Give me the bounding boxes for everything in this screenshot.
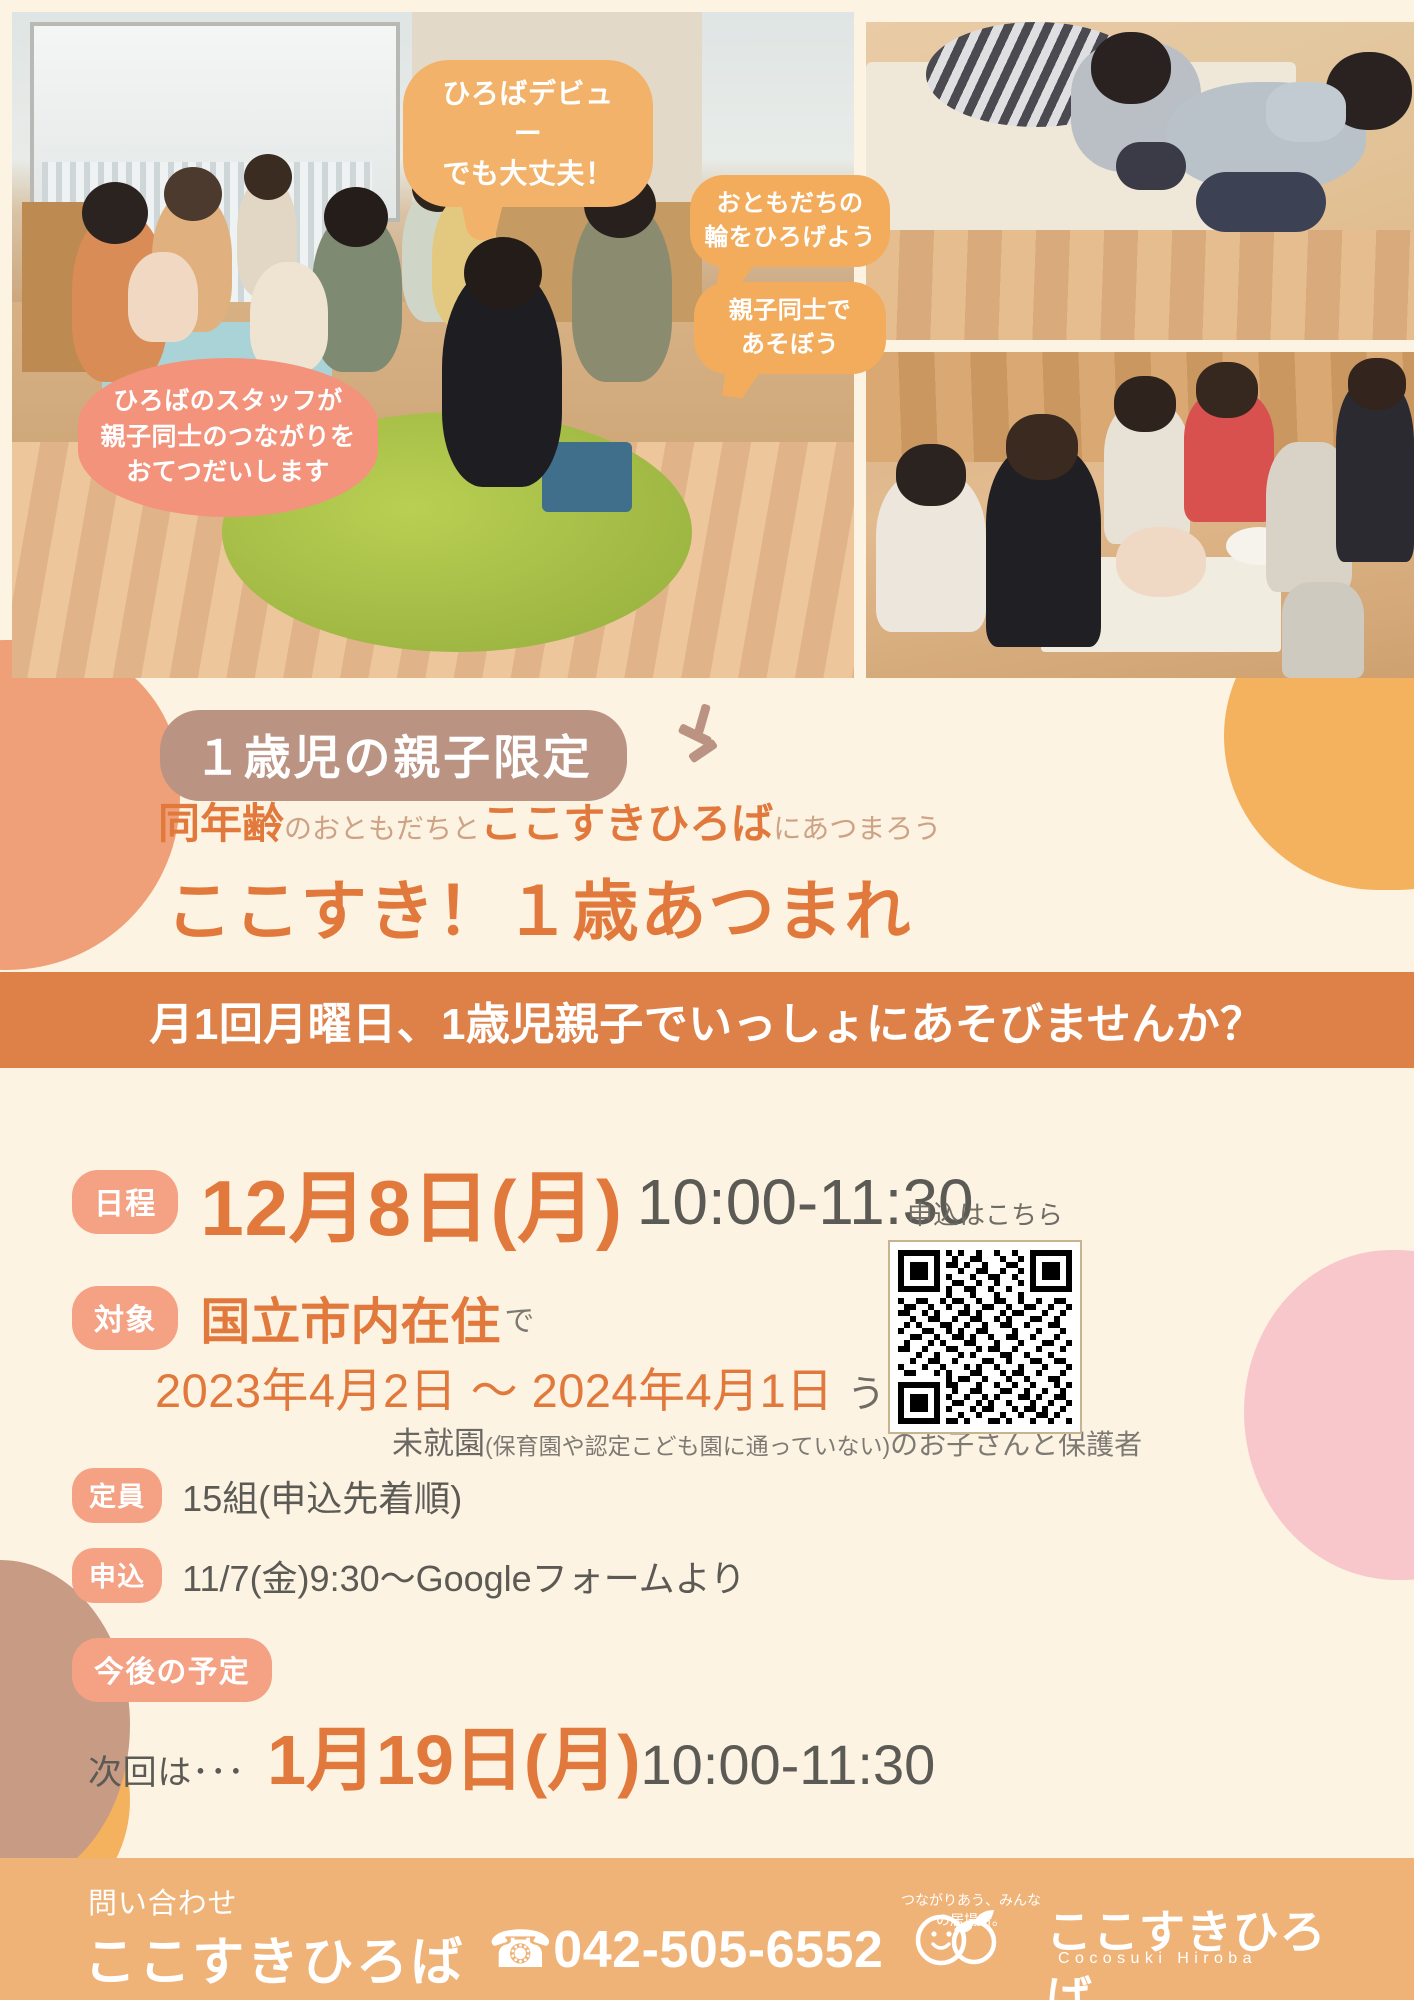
logo-brand-text: ここすきひろば [1046,1896,1336,2000]
detail-row-target: 対象 国立市内在住 で [72,1282,534,1354]
footer-org-name: ここすきひろば [84,1920,465,1995]
footer-logo: つながりあう、みんなの居場所。 ここすきひろば Cocosuki Hiroba [886,1884,1336,1980]
bubble-staff-support: ひろばのスタッフが 親子同士のつながりを おてつだいします [78,358,378,517]
logo-arc-text: つながりあう、みんなの居場所。 [896,1890,1046,1930]
target-note-paren: (保育園や認定こども園に通っていない) [485,1433,890,1459]
future-date: 1月19日(月) [267,1704,640,1805]
event-banner: 月1回月曜日、1歳児親子でいっしょにあそびませんか？ [0,972,1414,1068]
footer: 問い合わせ ここすきひろば ☎042-505-6552 つながりあう、みんなの居… [0,1858,1414,2000]
future-prefix: 次回は･･･ [88,1745,245,1794]
bubble-hiroba-debut-line2: でも大丈夫！ [429,154,627,194]
bubble-play-together: 親子同士で あそぼう [694,282,886,374]
future-label-pill: 今後の予定 [72,1638,272,1702]
title-subline-part2: のおともだちと [284,813,480,844]
bubble-play-together-line2: あそぼう [708,328,872,362]
photo-group-activity [866,352,1414,678]
title-subline-part4: にあつまろう [773,813,941,844]
detail-row-date: 日程 12月8日(月) 10:00-11:30 [72,1146,974,1258]
bubble-friend-circle-line2: 輪をひろげよう [704,221,876,255]
title-section: １歳児の親子限定 同年齢のおともだちとここすきひろばにあつまろう ここすき！１歳… [0,690,1414,972]
bubble-hiroba-debut: ひろばデビュー でも大丈夫！ [403,60,653,207]
bubble-staff-support-line2: 親子同士のつながりを [96,420,360,456]
detail-row-future: 今後の予定 [72,1638,272,1702]
bubble-friend-circle-line1: おともだちの [704,187,876,221]
target-main-value: 国立市内在住 [200,1282,500,1354]
bubble-staff-support-line3: おてつだいします [96,455,360,491]
footer-inquiry-label: 問い合わせ [88,1880,237,1922]
detail-row-apply: 申込 11/7(金)9:30～Googleフォームより [72,1548,746,1603]
telephone-icon: ☎ [488,1921,553,1979]
photo-collage: ひろばデビュー でも大丈夫！ ひろばのスタッフが 親子同士のつながりを おてつだ… [0,0,1414,690]
bubble-friend-circle: おともだちの 輪をひろげよう [690,175,890,267]
page-title: ここすき！１歳あつまれ [166,858,912,954]
target-birthdate-range-value: 2023年4月2日 ～ 2024年4月1日 [155,1364,834,1417]
qr-code-image [898,1250,1072,1424]
bubble-play-together-line1: 親子同士で [708,294,872,328]
qr-code[interactable] [888,1240,1082,1434]
target-suffix: で [504,1296,534,1340]
photo-group-activity-art [866,352,1414,678]
apply-value: 11/7(金)9:30～Googleフォームより [182,1550,746,1602]
capacity-value: 15組(申込先着順) [182,1470,462,1522]
title-subline: 同年齢のおともだちとここすきひろばにあつまろう [158,790,941,851]
title-subline-part1: 同年齢 [158,800,284,847]
target-label-pill: 対象 [72,1286,178,1350]
photo-baby-resting [866,22,1414,340]
future-schedule-line: 次回は･･･ 1月19日(月) 10:00-11:30 [88,1704,935,1805]
details-section: 日程 12月8日(月) 10:00-11:30 対象 国立市内在住 で 2023… [0,1068,1414,1858]
footer-telephone: ☎042-505-6552 [488,1920,883,1980]
target-note-bold: 未就園 [392,1426,485,1461]
bubble-hiroba-debut-line1: ひろばデビュー [429,74,627,154]
date-label-pill: 日程 [72,1170,178,1234]
sparkle-icon [672,704,728,766]
capacity-label-pill: 定員 [72,1468,162,1523]
qr-section[interactable]: 申込はこちら [855,1195,1115,1434]
detail-row-capacity: 定員 15組(申込先着順) [72,1468,462,1523]
bubble-staff-support-line1: ひろばのスタッフが [96,384,360,420]
photo-baby-resting-art [866,22,1414,340]
footer-telephone-number: 042-505-6552 [553,1921,883,1979]
qr-label: 申込はこちら [855,1195,1115,1232]
logo-roman-text: Cocosuki Hiroba [1058,1950,1257,1968]
age-limit-badge: １歳児の親子限定 [160,710,627,801]
apply-label-pill: 申込 [72,1548,162,1603]
date-value: 12月8日(月) [200,1146,622,1258]
poster-root: ひろばデビュー でも大丈夫！ ひろばのスタッフが 親子同士のつながりを おてつだ… [0,0,1414,2000]
title-subline-part3: ここすきひろば [480,800,773,847]
future-time: 10:00-11:30 [641,1732,936,1797]
